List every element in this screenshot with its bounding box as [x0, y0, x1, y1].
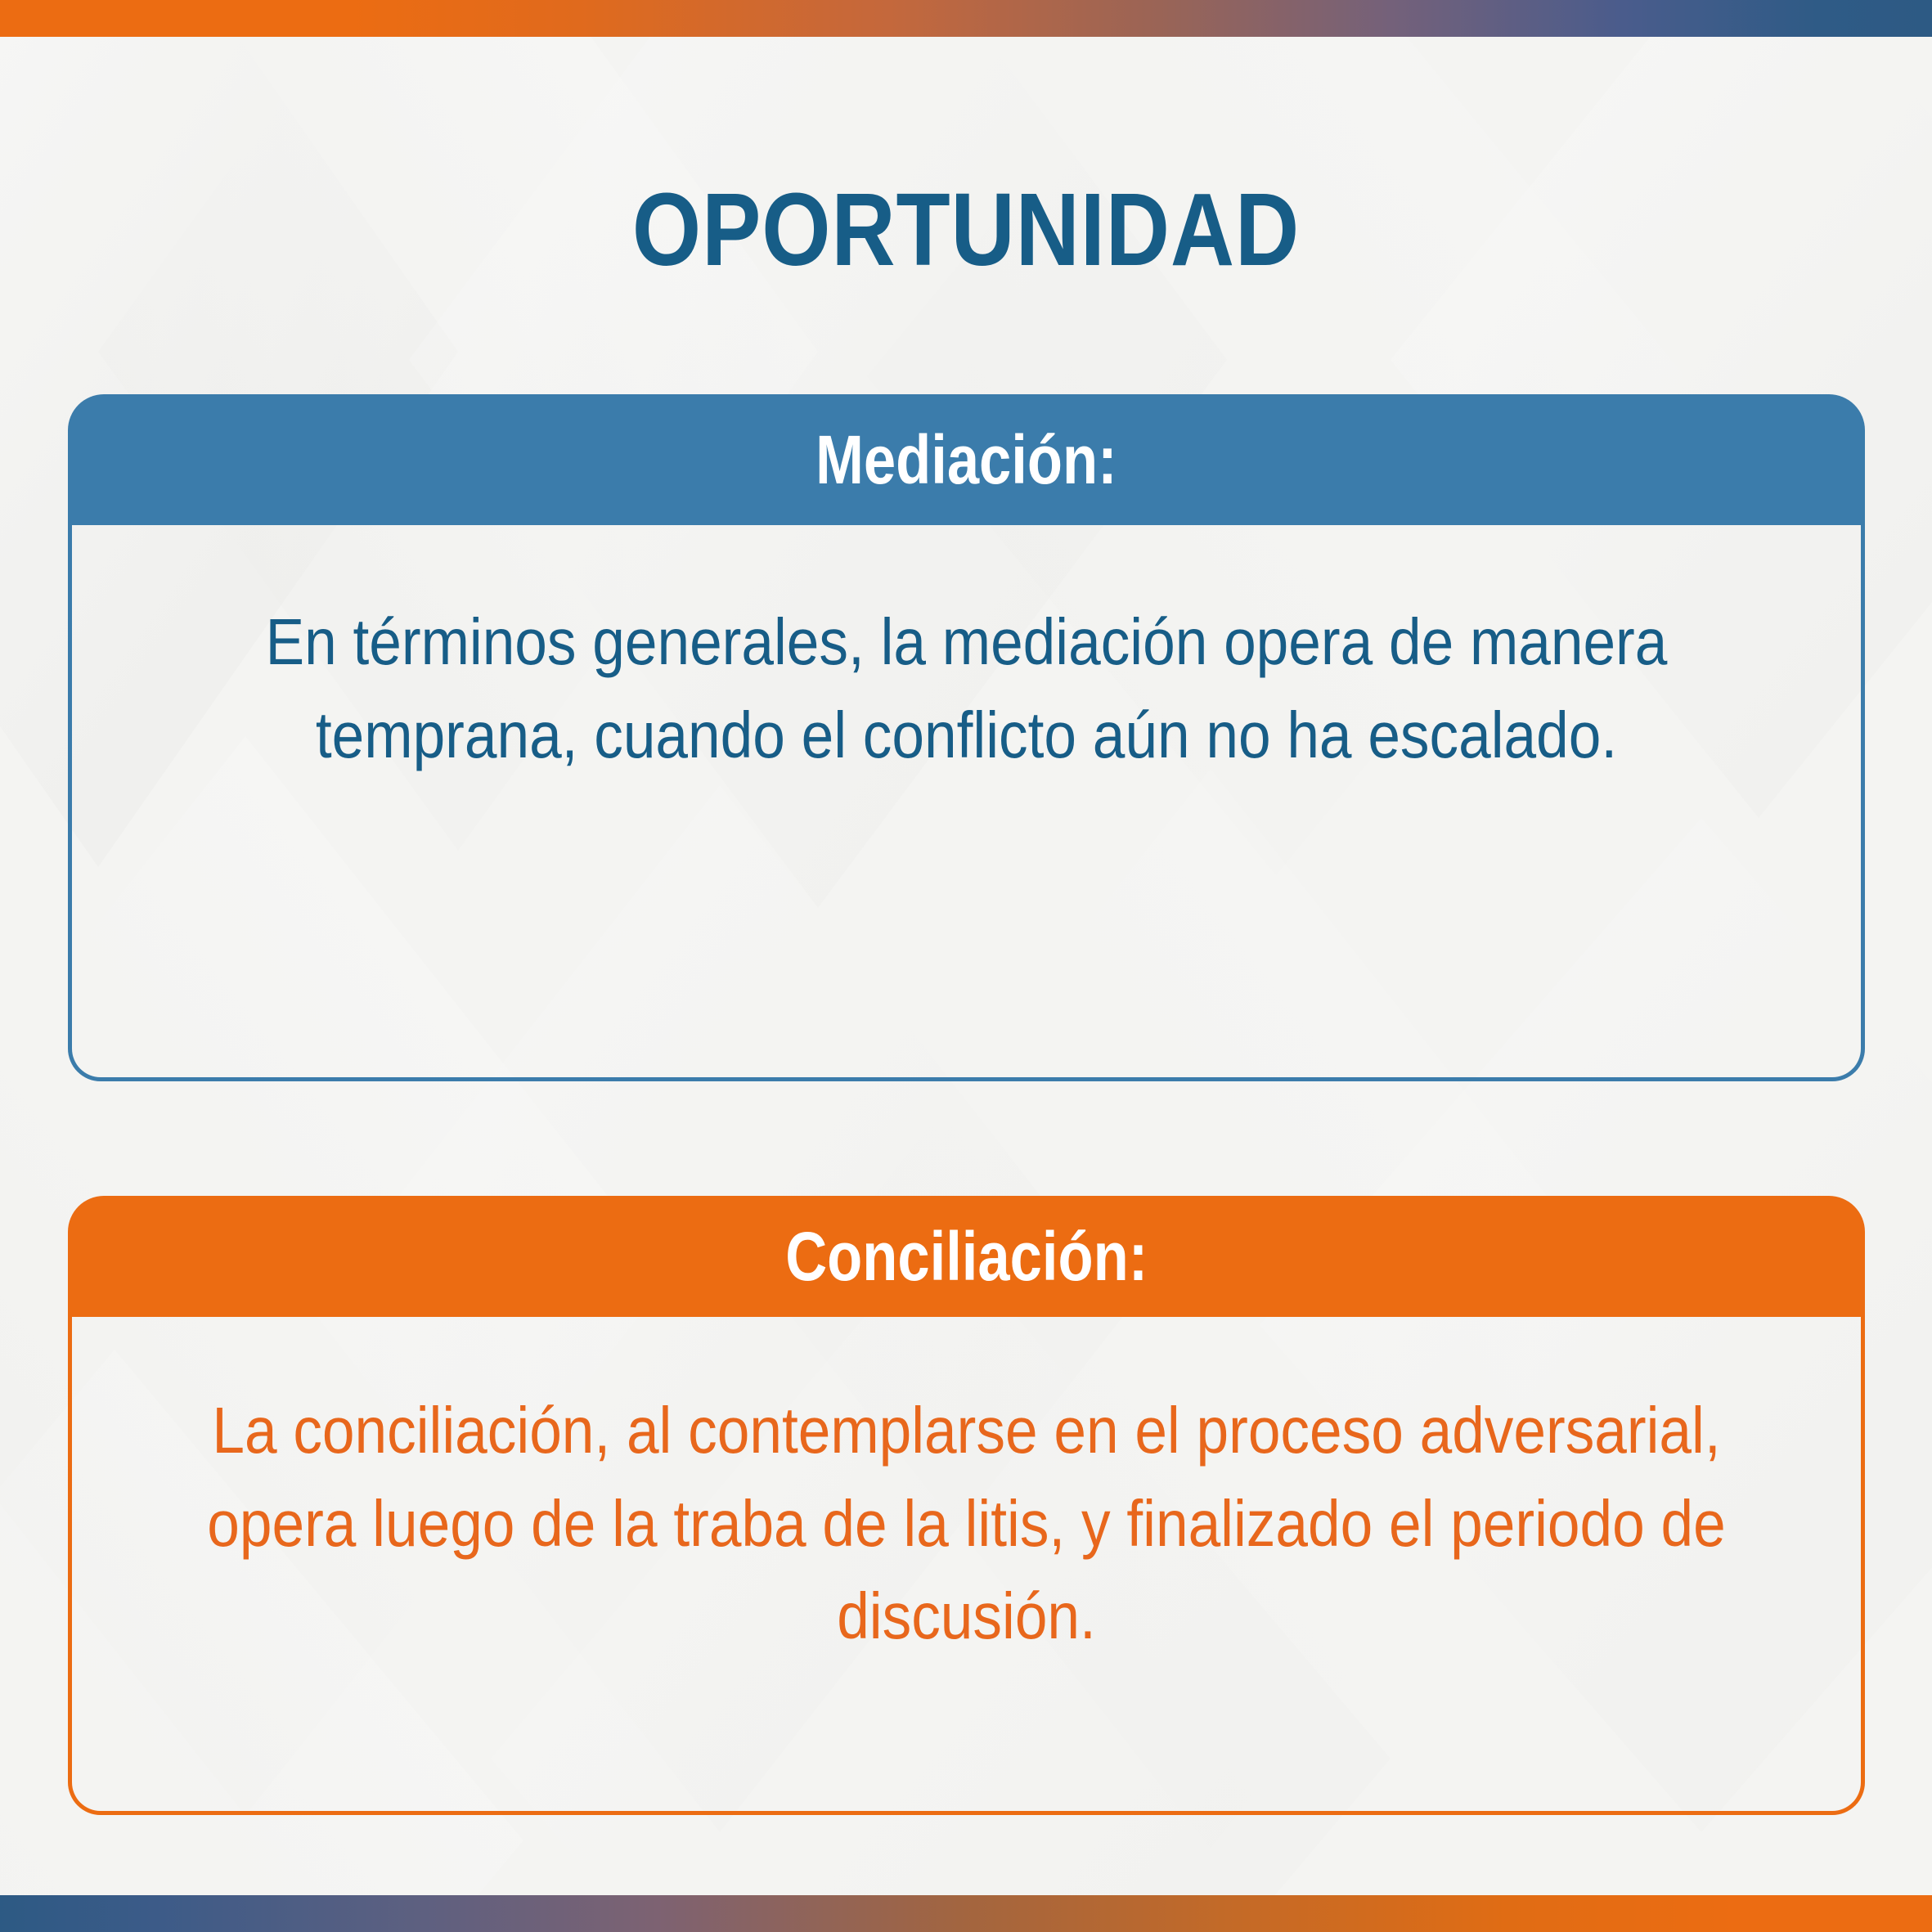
card-conciliacion-header: Conciliación: — [68, 1196, 1865, 1317]
card-mediacion: Mediación: En términos generales, la med… — [68, 394, 1865, 1081]
card-conciliacion-body-text: La conciliación, al contemplarse en el p… — [170, 1384, 1762, 1663]
slide-canvas: OPORTUNIDAD Mediación: En términos gener… — [0, 0, 1932, 1932]
card-mediacion-header: Mediación: — [68, 394, 1865, 525]
card-mediacion-body-text: En términos generales, la mediación oper… — [170, 595, 1762, 781]
card-conciliacion-header-wrap: Conciliación: — [68, 1196, 1865, 1317]
card-mediacion-body: En términos generales, la mediación oper… — [68, 525, 1865, 1081]
top-gradient-bar — [0, 0, 1932, 37]
bottom-gradient-bar — [0, 1895, 1932, 1932]
page-title: OPORTUNIDAD — [135, 178, 1796, 281]
card-mediacion-header-label: Mediación: — [815, 425, 1117, 494]
card-mediacion-header-wrap: Mediación: — [68, 394, 1865, 525]
card-conciliacion-header-label: Conciliación: — [785, 1222, 1148, 1291]
card-conciliacion: Conciliación: La conciliación, al contem… — [68, 1196, 1865, 1815]
card-conciliacion-body: La conciliación, al contemplarse en el p… — [68, 1317, 1865, 1815]
